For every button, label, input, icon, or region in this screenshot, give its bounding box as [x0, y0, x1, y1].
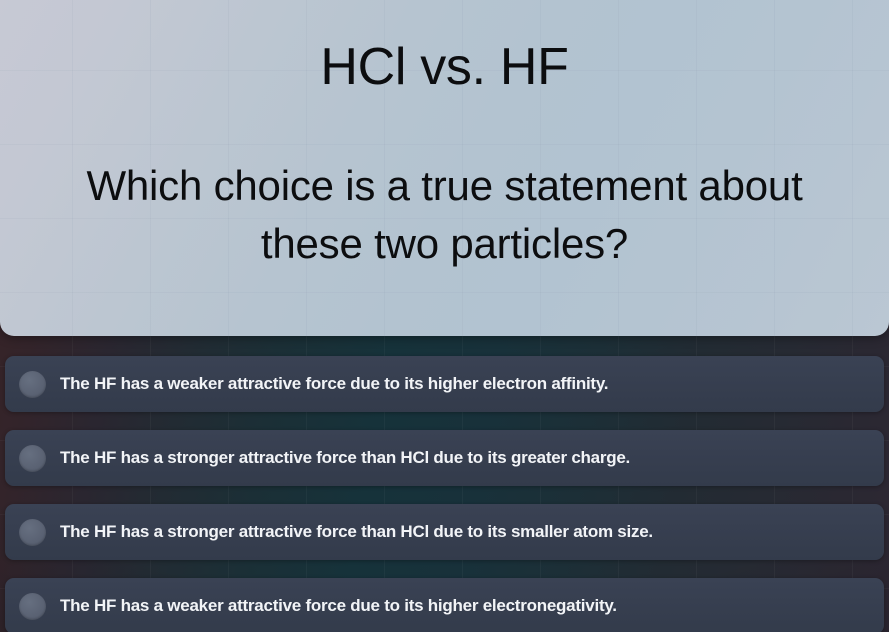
quiz-screen: HCl vs. HF Which choice is a true statem…	[0, 0, 889, 632]
radio-button-icon[interactable]	[19, 593, 46, 620]
answer-option-a[interactable]: The HF has a weaker attractive force due…	[5, 356, 884, 412]
answer-option-label: The HF has a weaker attractive force due…	[60, 596, 617, 616]
radio-button-icon[interactable]	[19, 519, 46, 546]
answer-options-list: The HF has a weaker attractive force due…	[0, 356, 889, 632]
answer-option-label: The HF has a stronger attractive force t…	[60, 448, 630, 468]
quiz-title: HCl vs. HF	[0, 40, 889, 95]
radio-button-icon[interactable]	[19, 445, 46, 472]
question-text: Which choice is a true statement about t…	[65, 157, 825, 272]
radio-button-icon[interactable]	[19, 371, 46, 398]
answer-option-label: The HF has a stronger attractive force t…	[60, 522, 653, 542]
answer-option-b[interactable]: The HF has a stronger attractive force t…	[5, 430, 884, 486]
answer-option-label: The HF has a weaker attractive force due…	[60, 374, 608, 394]
answer-option-c[interactable]: The HF has a stronger attractive force t…	[5, 504, 884, 560]
answer-option-d[interactable]: The HF has a weaker attractive force due…	[5, 578, 884, 632]
question-prompt-card: HCl vs. HF Which choice is a true statem…	[0, 0, 889, 336]
